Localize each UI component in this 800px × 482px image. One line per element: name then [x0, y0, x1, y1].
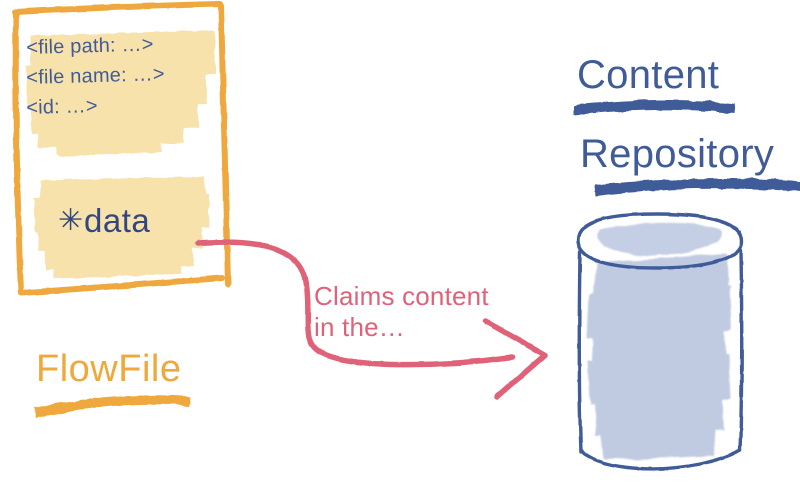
repository-title-line2: Repository — [580, 134, 774, 174]
content-star-icon: ✳ — [58, 206, 83, 236]
flowfile-content-label: data — [84, 204, 150, 237]
content-repository-cylinder — [578, 214, 742, 469]
flowfile-attribute-file-path: <file path: …> — [26, 34, 154, 58]
diagram-canvas: <file path: …> <file name: …> <id: …> ✳ … — [0, 0, 800, 482]
flowfile-title: FlowFile — [36, 350, 181, 388]
cylinder-fill — [588, 254, 732, 460]
cylinder-top-fill — [598, 223, 722, 255]
arrow-label-line2: in the… — [314, 312, 405, 343]
arrow-label-line1: Claims content — [314, 281, 489, 312]
repository-title-line1: Content — [577, 55, 719, 95]
flowfile-attribute-id: <id: …> — [26, 96, 98, 118]
flowfile-attribute-file-name: <file name: …> — [26, 64, 165, 88]
